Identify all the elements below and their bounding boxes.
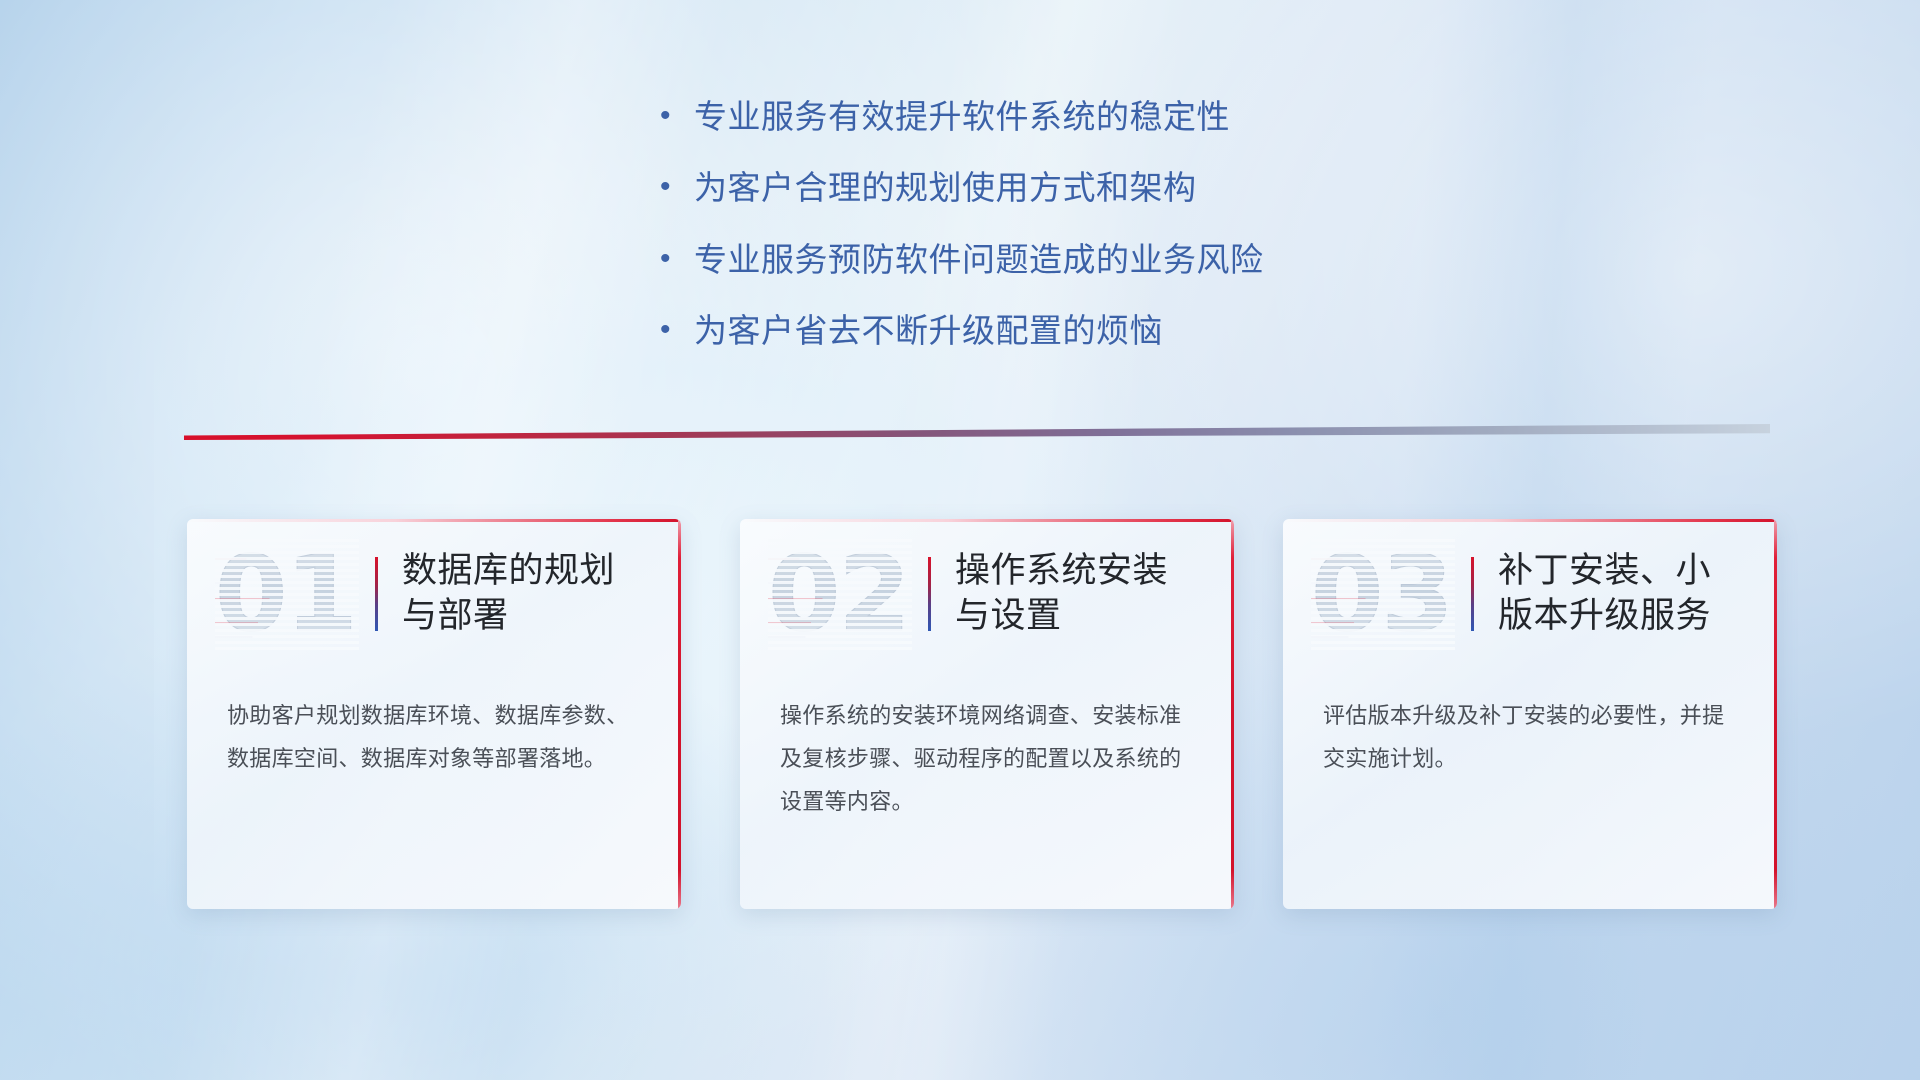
bullet-text: 专业服务有效提升软件系统的稳定性 — [694, 96, 1420, 137]
card-body-text: 协助客户规划数据库环境、数据库参数、数据库空间、数据库对象等部署落地。 — [187, 669, 681, 781]
bullet-marker-icon: • — [660, 239, 694, 280]
divider-gradient-bar — [184, 424, 1770, 440]
card-title: 补丁安装、小版本升级服务 — [1498, 549, 1743, 639]
bullet-text: 为客户省去不断升级配置的烦恼 — [694, 310, 1420, 351]
list-item: • 为客户合理的规划使用方式和架构 — [660, 167, 1420, 208]
card-number-graphic: 01 — [215, 536, 359, 652]
card-number-graphic: 03 — [1311, 536, 1455, 652]
accent-bar — [1471, 557, 1474, 631]
bullet-text: 专业服务预防软件问题造成的业务风险 — [694, 239, 1420, 280]
card-number: 01 — [215, 536, 359, 652]
accent-bar — [928, 557, 931, 631]
service-card-02[interactable]: 02 操作系统安装与设置 操作系统的安装环境网络调查、安装标准及复核步骤、驱动程… — [740, 519, 1234, 909]
card-number: 02 — [768, 536, 912, 652]
card-header: 03 补丁安装、小版本升级服务 — [1283, 519, 1777, 669]
bullet-marker-icon: • — [660, 310, 694, 351]
list-item: • 专业服务预防软件问题造成的业务风险 — [660, 239, 1420, 280]
service-card-group: 01 数据库的规划与部署 协助客户规划数据库环境、数据库参数、数据库空间、数据库… — [0, 519, 1920, 919]
card-title: 数据库的规划与部署 — [402, 549, 647, 639]
list-item: • 为客户省去不断升级配置的烦恼 — [660, 310, 1420, 351]
bullet-marker-icon: • — [660, 96, 694, 137]
bullet-text: 为客户合理的规划使用方式和架构 — [694, 167, 1420, 208]
card-body-text: 操作系统的安装环境网络调查、安装标准及复核步骤、驱动程序的配置以及系统的设置等内… — [740, 669, 1234, 824]
card-number: 03 — [1311, 536, 1455, 652]
card-title: 操作系统安装与设置 — [955, 549, 1200, 639]
benefits-bullet-list: • 专业服务有效提升软件系统的稳定性 • 为客户合理的规划使用方式和架构 • 专… — [660, 96, 1420, 381]
card-header: 02 操作系统安装与设置 — [740, 519, 1234, 669]
accent-bar — [375, 557, 378, 631]
card-header: 01 数据库的规划与部署 — [187, 519, 681, 669]
list-item: • 专业服务有效提升软件系统的稳定性 — [660, 96, 1420, 137]
bullet-marker-icon: • — [660, 167, 694, 208]
service-card-03[interactable]: 03 补丁安装、小版本升级服务 评估版本升级及补丁安装的必要性，并提交实施计划。 — [1283, 519, 1777, 909]
card-body-text: 评估版本升级及补丁安装的必要性，并提交实施计划。 — [1283, 669, 1777, 781]
section-divider — [184, 424, 1770, 440]
service-card-01[interactable]: 01 数据库的规划与部署 协助客户规划数据库环境、数据库参数、数据库空间、数据库… — [187, 519, 681, 909]
card-number-graphic: 02 — [768, 536, 912, 652]
